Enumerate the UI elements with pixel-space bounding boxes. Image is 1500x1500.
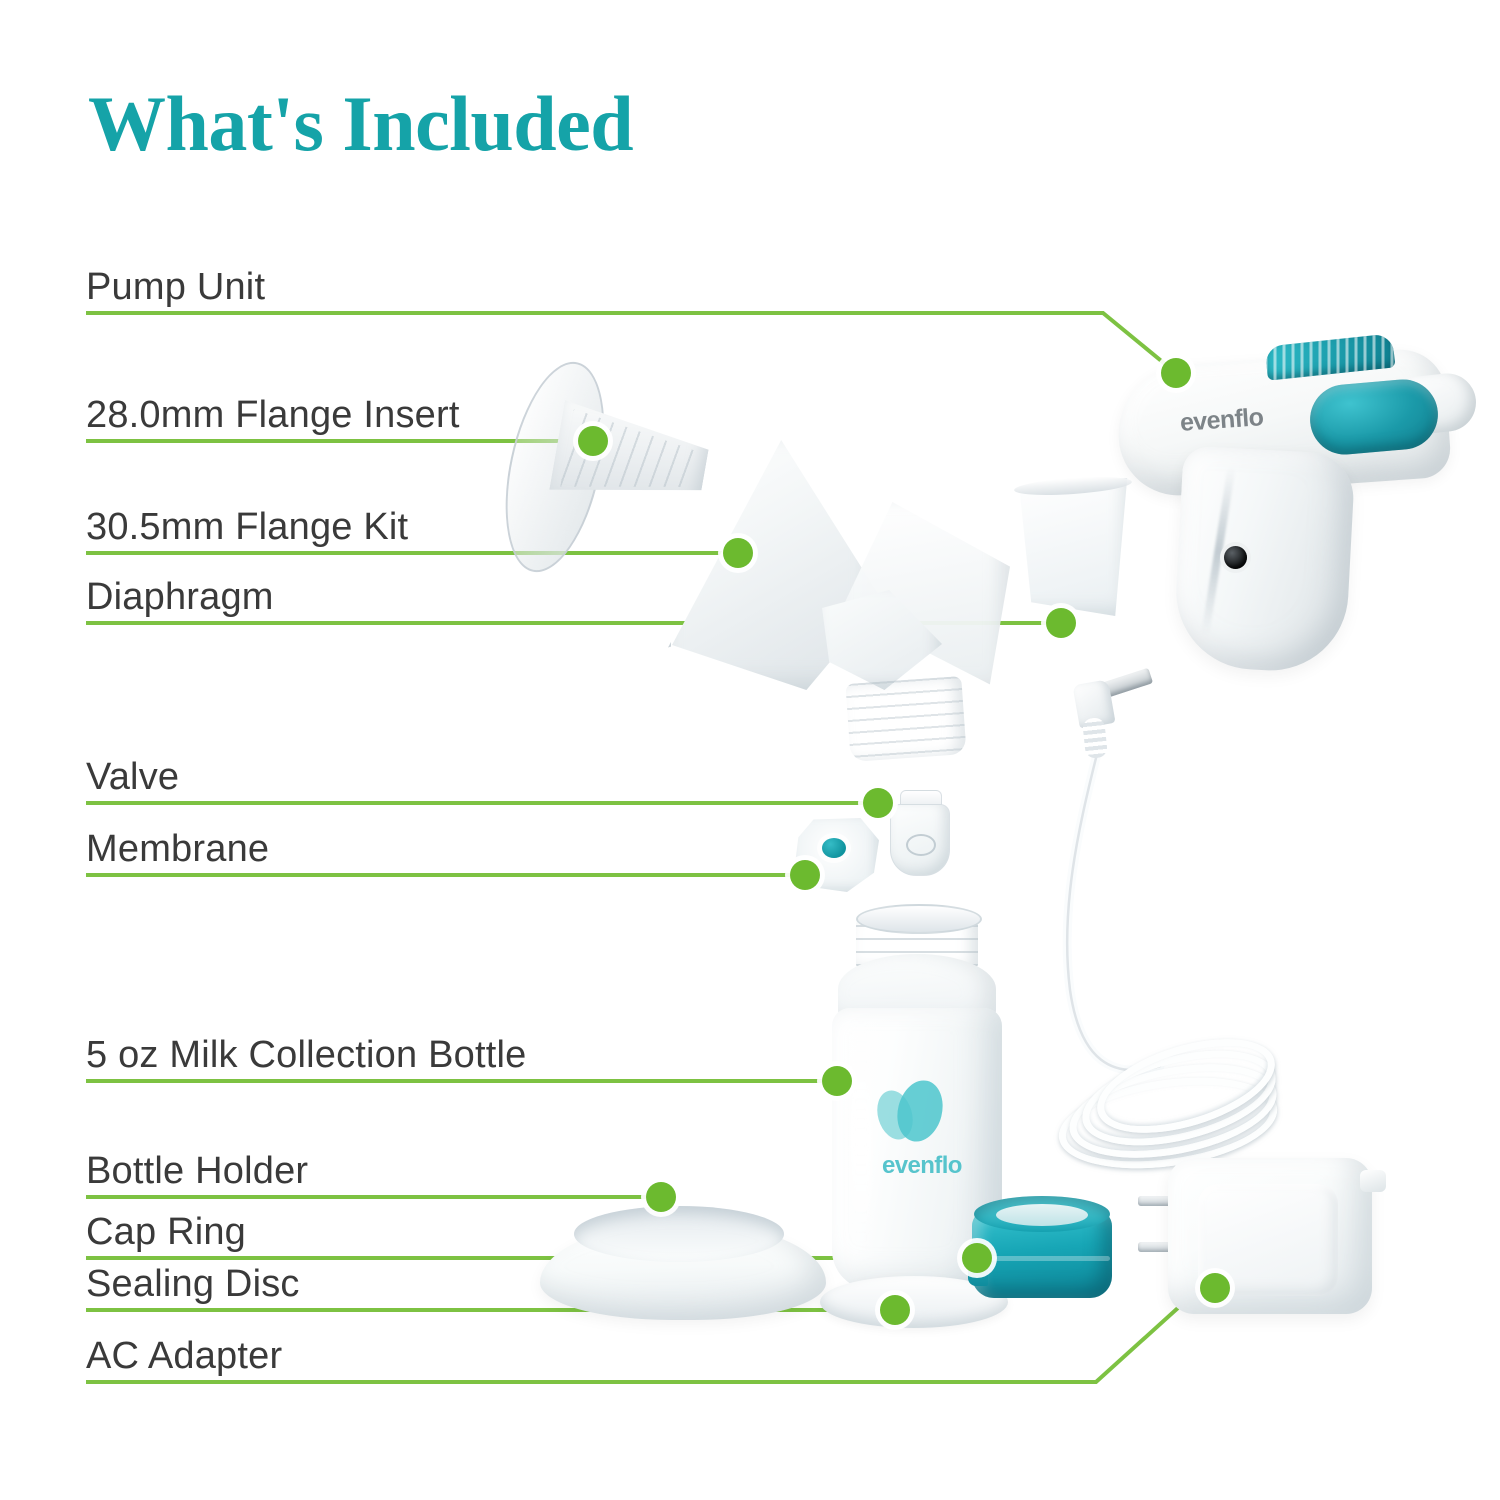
cap-ring-ridge [974, 1256, 1110, 1261]
pump-brand-logo: evenflo [1179, 403, 1264, 438]
part-diaphragm [1012, 478, 1142, 624]
callout-dot-sealing-disc [880, 1295, 910, 1325]
part-pump-unit: evenflo [1118, 340, 1488, 700]
bottle-mouth [856, 904, 982, 934]
membrane-center [822, 838, 846, 858]
callout-dot-bottle-holder [646, 1182, 676, 1212]
callout-dot-ac-adapter [1200, 1273, 1230, 1303]
pump-power-port-icon [1224, 546, 1247, 569]
product-illustration: evenflo [0, 0, 1500, 1500]
product-diagram-canvas: What's Included Pump [0, 0, 1500, 1500]
bottle-brand-logo: evenflo [882, 1152, 962, 1180]
flange-kit-thread [845, 676, 966, 762]
valve-slot [906, 834, 936, 856]
cord-strain-relief [1082, 717, 1108, 759]
diaphragm-cup [1012, 478, 1132, 616]
callout-dot-valve [863, 788, 893, 818]
bottle-highlight [850, 1022, 872, 1252]
callout-dot-membrane [790, 860, 820, 890]
bottle-holder-bowl [574, 1206, 784, 1262]
part-flange-kit [672, 440, 992, 780]
part-cap-ring [972, 1196, 1114, 1304]
pump-handle [1172, 446, 1355, 675]
part-bottle-holder [540, 1200, 830, 1320]
callout-dot-cap-ring [962, 1243, 992, 1273]
callout-dot-flange-kit [723, 538, 753, 568]
callout-dot-flange-insert [578, 426, 608, 456]
callout-dot-pump-unit [1161, 358, 1191, 388]
ac-adapter-tab [1360, 1170, 1386, 1192]
part-valve [890, 790, 952, 876]
callout-dot-diaphragm [1046, 608, 1076, 638]
cap-ring-hole [996, 1204, 1088, 1226]
part-ac-adapter [1144, 1144, 1394, 1334]
callout-dot-bottle [822, 1066, 852, 1096]
